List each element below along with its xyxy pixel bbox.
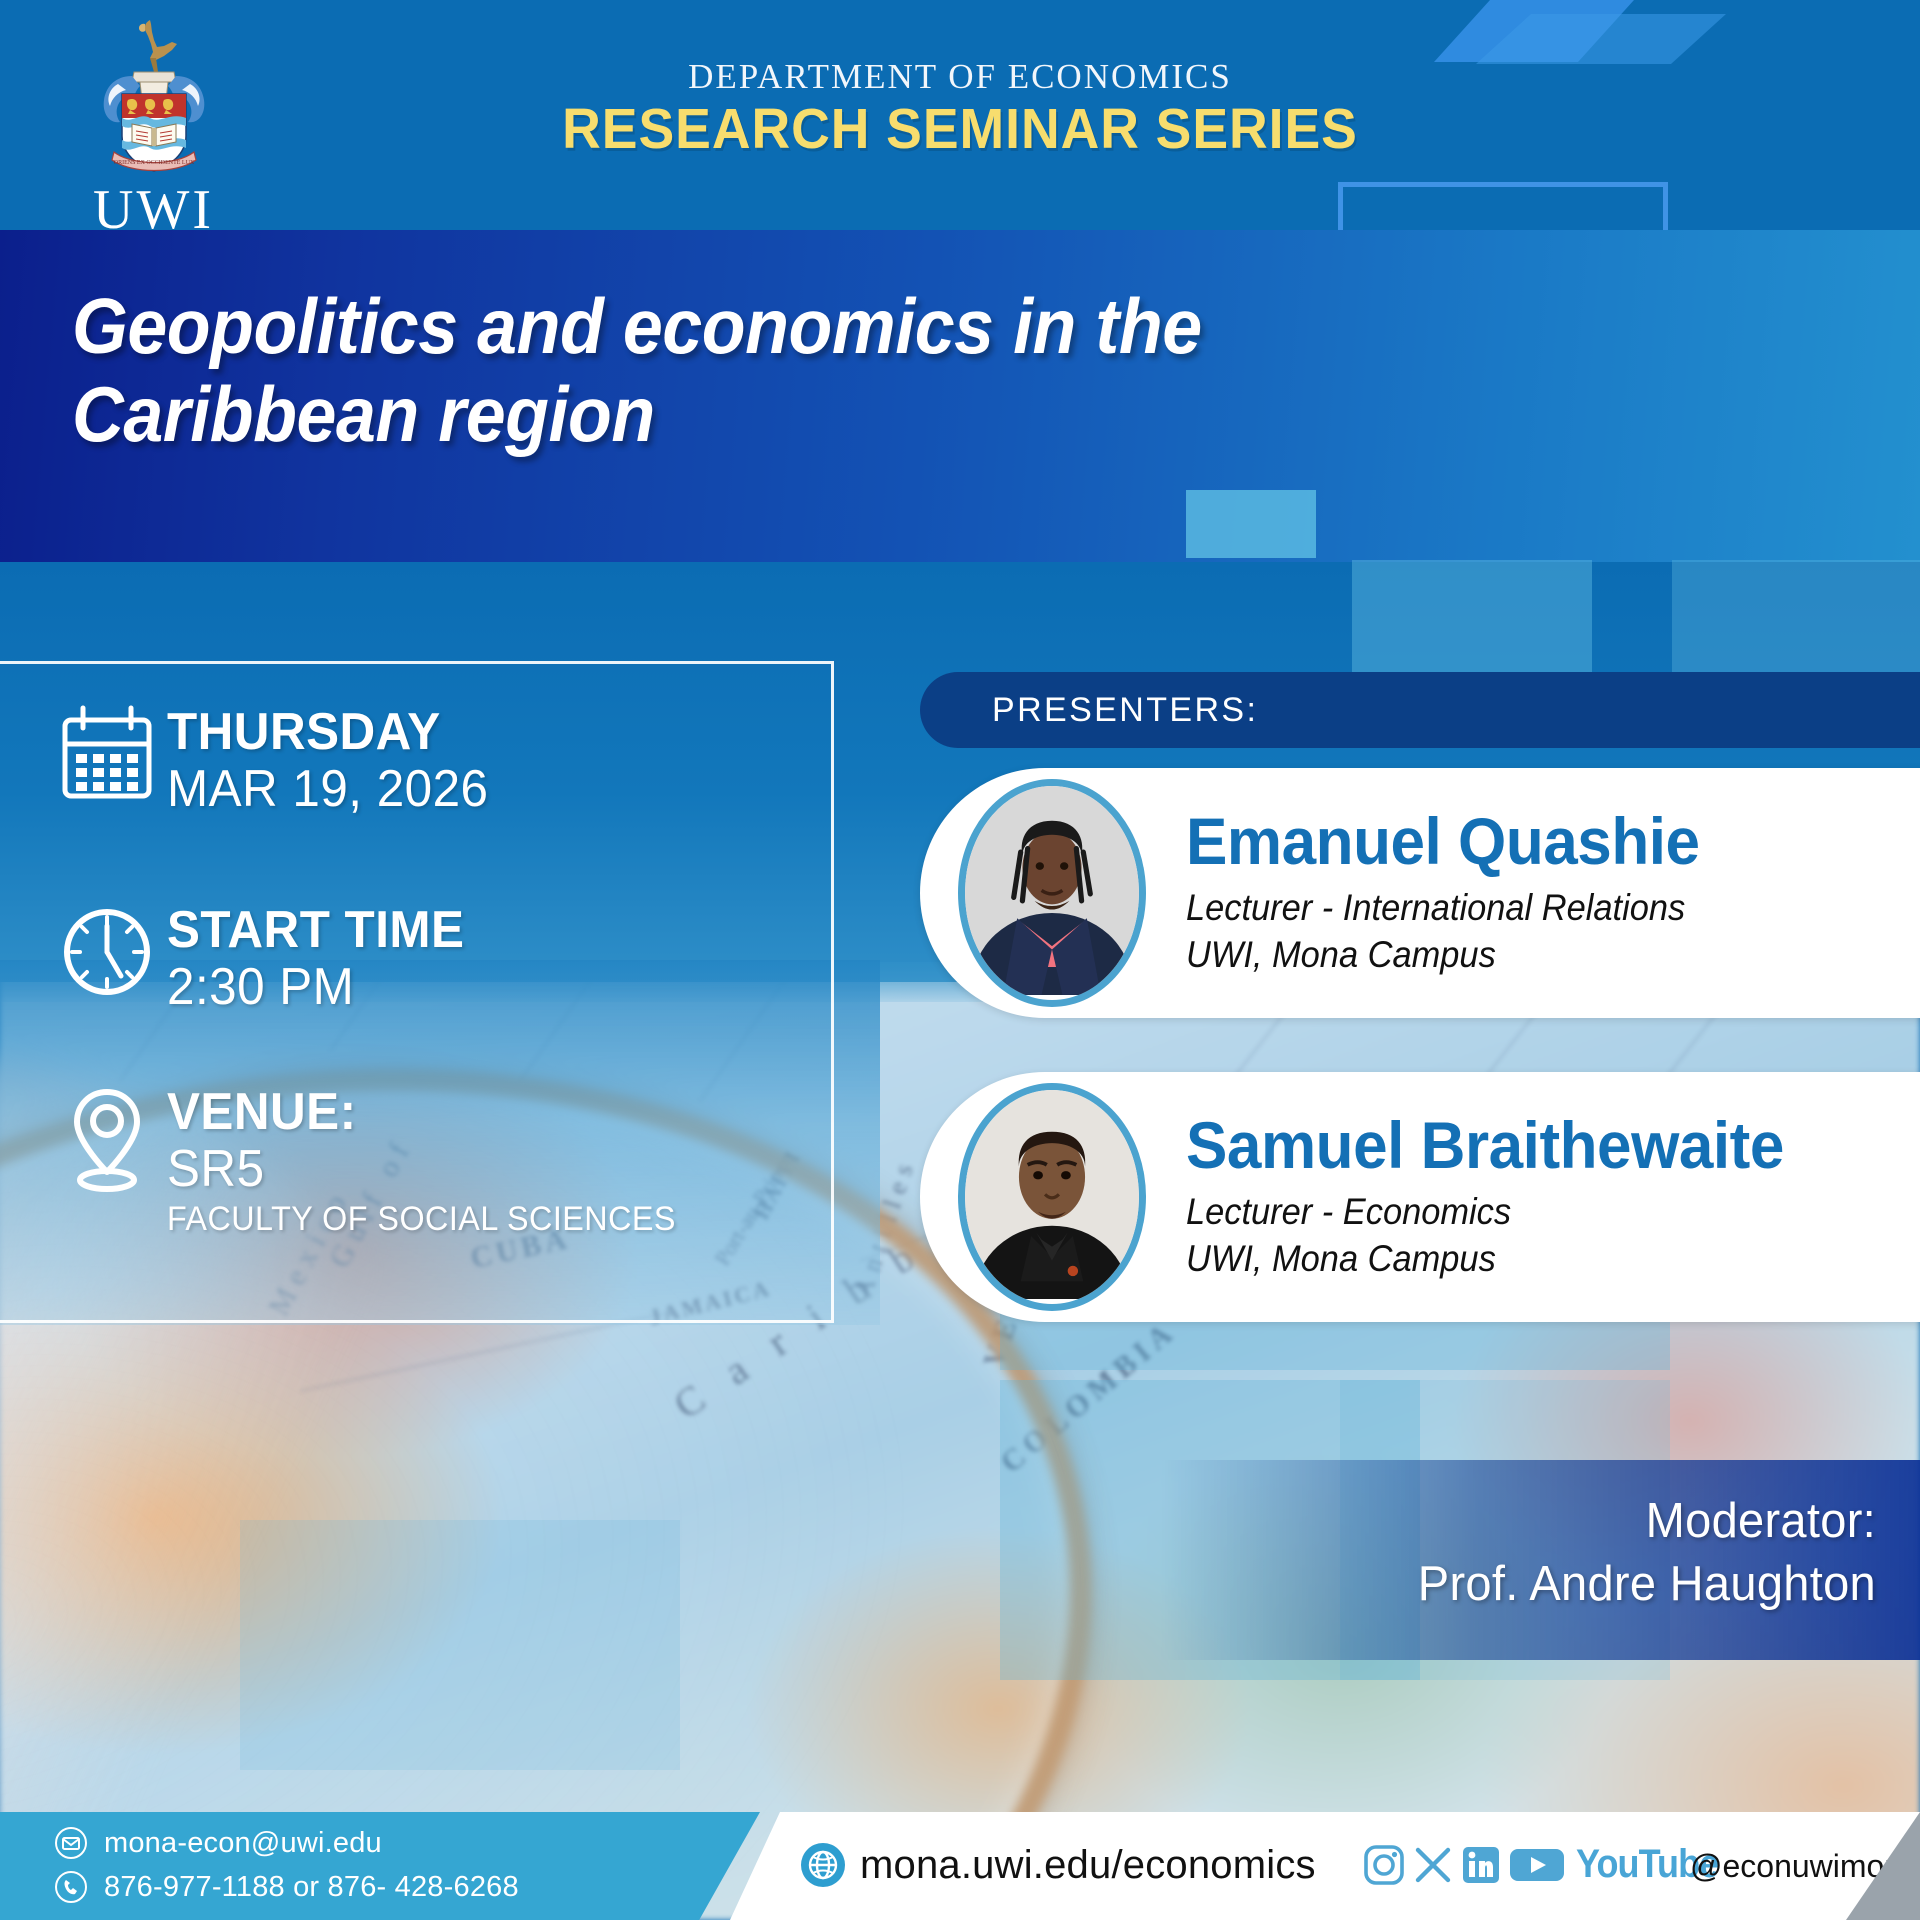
presenter-affiliation-2: UWI, Mona Campus: [1186, 1235, 1778, 1282]
presenter-role-2: Lecturer - Economics: [1186, 1188, 1778, 1235]
time-value: 2:30 PM: [167, 958, 464, 1017]
overlay-square-e: [240, 1520, 680, 1770]
date-value: MAR 19, 2026: [167, 760, 489, 819]
venue-label: VENUE:: [167, 1084, 676, 1140]
venue-sub: FACULTY OF SOCIAL SCIENCES: [167, 1199, 676, 1239]
moderator-name: Prof. Andre Haughton: [1204, 1553, 1876, 1616]
date-label: THURSDAY: [167, 704, 489, 760]
seminar-poster: Gulf of Mexico CUBA HAITI Port-au-Prince…: [0, 0, 1920, 1920]
presenter-avatar-2: [958, 1083, 1146, 1311]
detail-row-time: START TIME 2:30 PM: [47, 902, 480, 1017]
calendar-icon: [47, 704, 167, 804]
clock-icon: [47, 902, 167, 1002]
footer-phone-text: 876-977-1188 or 876- 428-6268: [104, 1871, 519, 1904]
seminar-title: Geopolitics and economics in the Caribbe…: [72, 282, 1378, 458]
linkedin-icon[interactable]: [1460, 1844, 1502, 1886]
presenter-card-1: Emanuel Quashie Lecturer - International…: [920, 768, 1920, 1018]
youtube-icon[interactable]: [1508, 1844, 1566, 1886]
presenter-name-2: Samuel Braithewaite: [1186, 1112, 1784, 1178]
presenter-name-1: Emanuel Quashie: [1186, 808, 1700, 874]
venue-value: SR5: [167, 1140, 676, 1199]
presenter-affiliation-1: UWI, Mona Campus: [1186, 931, 1694, 978]
time-label: START TIME: [167, 902, 464, 958]
social-links: YouTube: [1362, 1842, 1734, 1887]
detail-text-time: START TIME 2:30 PM: [167, 902, 480, 1017]
event-details-box: THURSDAY MAR 19, 2026: [0, 661, 834, 1323]
footer-email-text: mona-econ@uwi.edu: [104, 1827, 382, 1860]
envelope-icon: [54, 1826, 88, 1860]
detail-text-date: THURSDAY MAR 19, 2026: [167, 704, 505, 819]
detail-row-venue: VENUE: SR5 FACULTY OF SOCIAL SCIENCES: [47, 1084, 703, 1240]
location-pin-icon: [47, 1084, 167, 1194]
presenter-info-1: Emanuel Quashie Lecturer - International…: [1186, 808, 1732, 979]
presenter-avatar-1: [958, 779, 1146, 1007]
presenter-info-2: Samuel Braithewaite Lecturer - Economics…: [1186, 1112, 1822, 1283]
footer-bar: mona-econ@uwi.edu 876-977-1188 or 876- 4…: [0, 1812, 1920, 1920]
presenters-heading-bar: PRESENTERS:: [920, 672, 1920, 748]
footer-phone[interactable]: 876-977-1188 or 876- 428-6268: [54, 1870, 519, 1904]
series-title: RESEARCH SEMINAR SERIES: [58, 96, 1863, 162]
presenter-card-2: Samuel Braithewaite Lecturer - Economics…: [920, 1072, 1920, 1322]
footer-website-text: mona.uwi.edu/economics: [860, 1843, 1316, 1888]
deco-filled-square-3: [1186, 490, 1316, 558]
phone-icon: [54, 1870, 88, 1904]
title-band: Geopolitics and economics in the Caribbe…: [0, 230, 1920, 562]
deco-filled-square-5: [1672, 560, 1920, 680]
moderator-label: Moderator:: [1204, 1490, 1876, 1553]
instagram-icon[interactable]: [1362, 1843, 1406, 1887]
presenters-heading-label: PRESENTERS:: [992, 691, 1258, 730]
moderator-block: Moderator: Prof. Andre Haughton: [1204, 1490, 1876, 1615]
x-twitter-icon[interactable]: [1412, 1844, 1454, 1886]
presenter-role-1: Lecturer - International Relations: [1186, 884, 1694, 931]
detail-text-venue: VENUE: SR5 FACULTY OF SOCIAL SCIENCES: [167, 1084, 703, 1240]
detail-row-date: THURSDAY MAR 19, 2026: [47, 704, 505, 819]
footer-email[interactable]: mona-econ@uwi.edu: [54, 1826, 382, 1860]
footer-website[interactable]: mona.uwi.edu/economics: [800, 1842, 1316, 1888]
globe-icon: [800, 1842, 846, 1888]
deco-filled-square-4: [1352, 560, 1592, 680]
